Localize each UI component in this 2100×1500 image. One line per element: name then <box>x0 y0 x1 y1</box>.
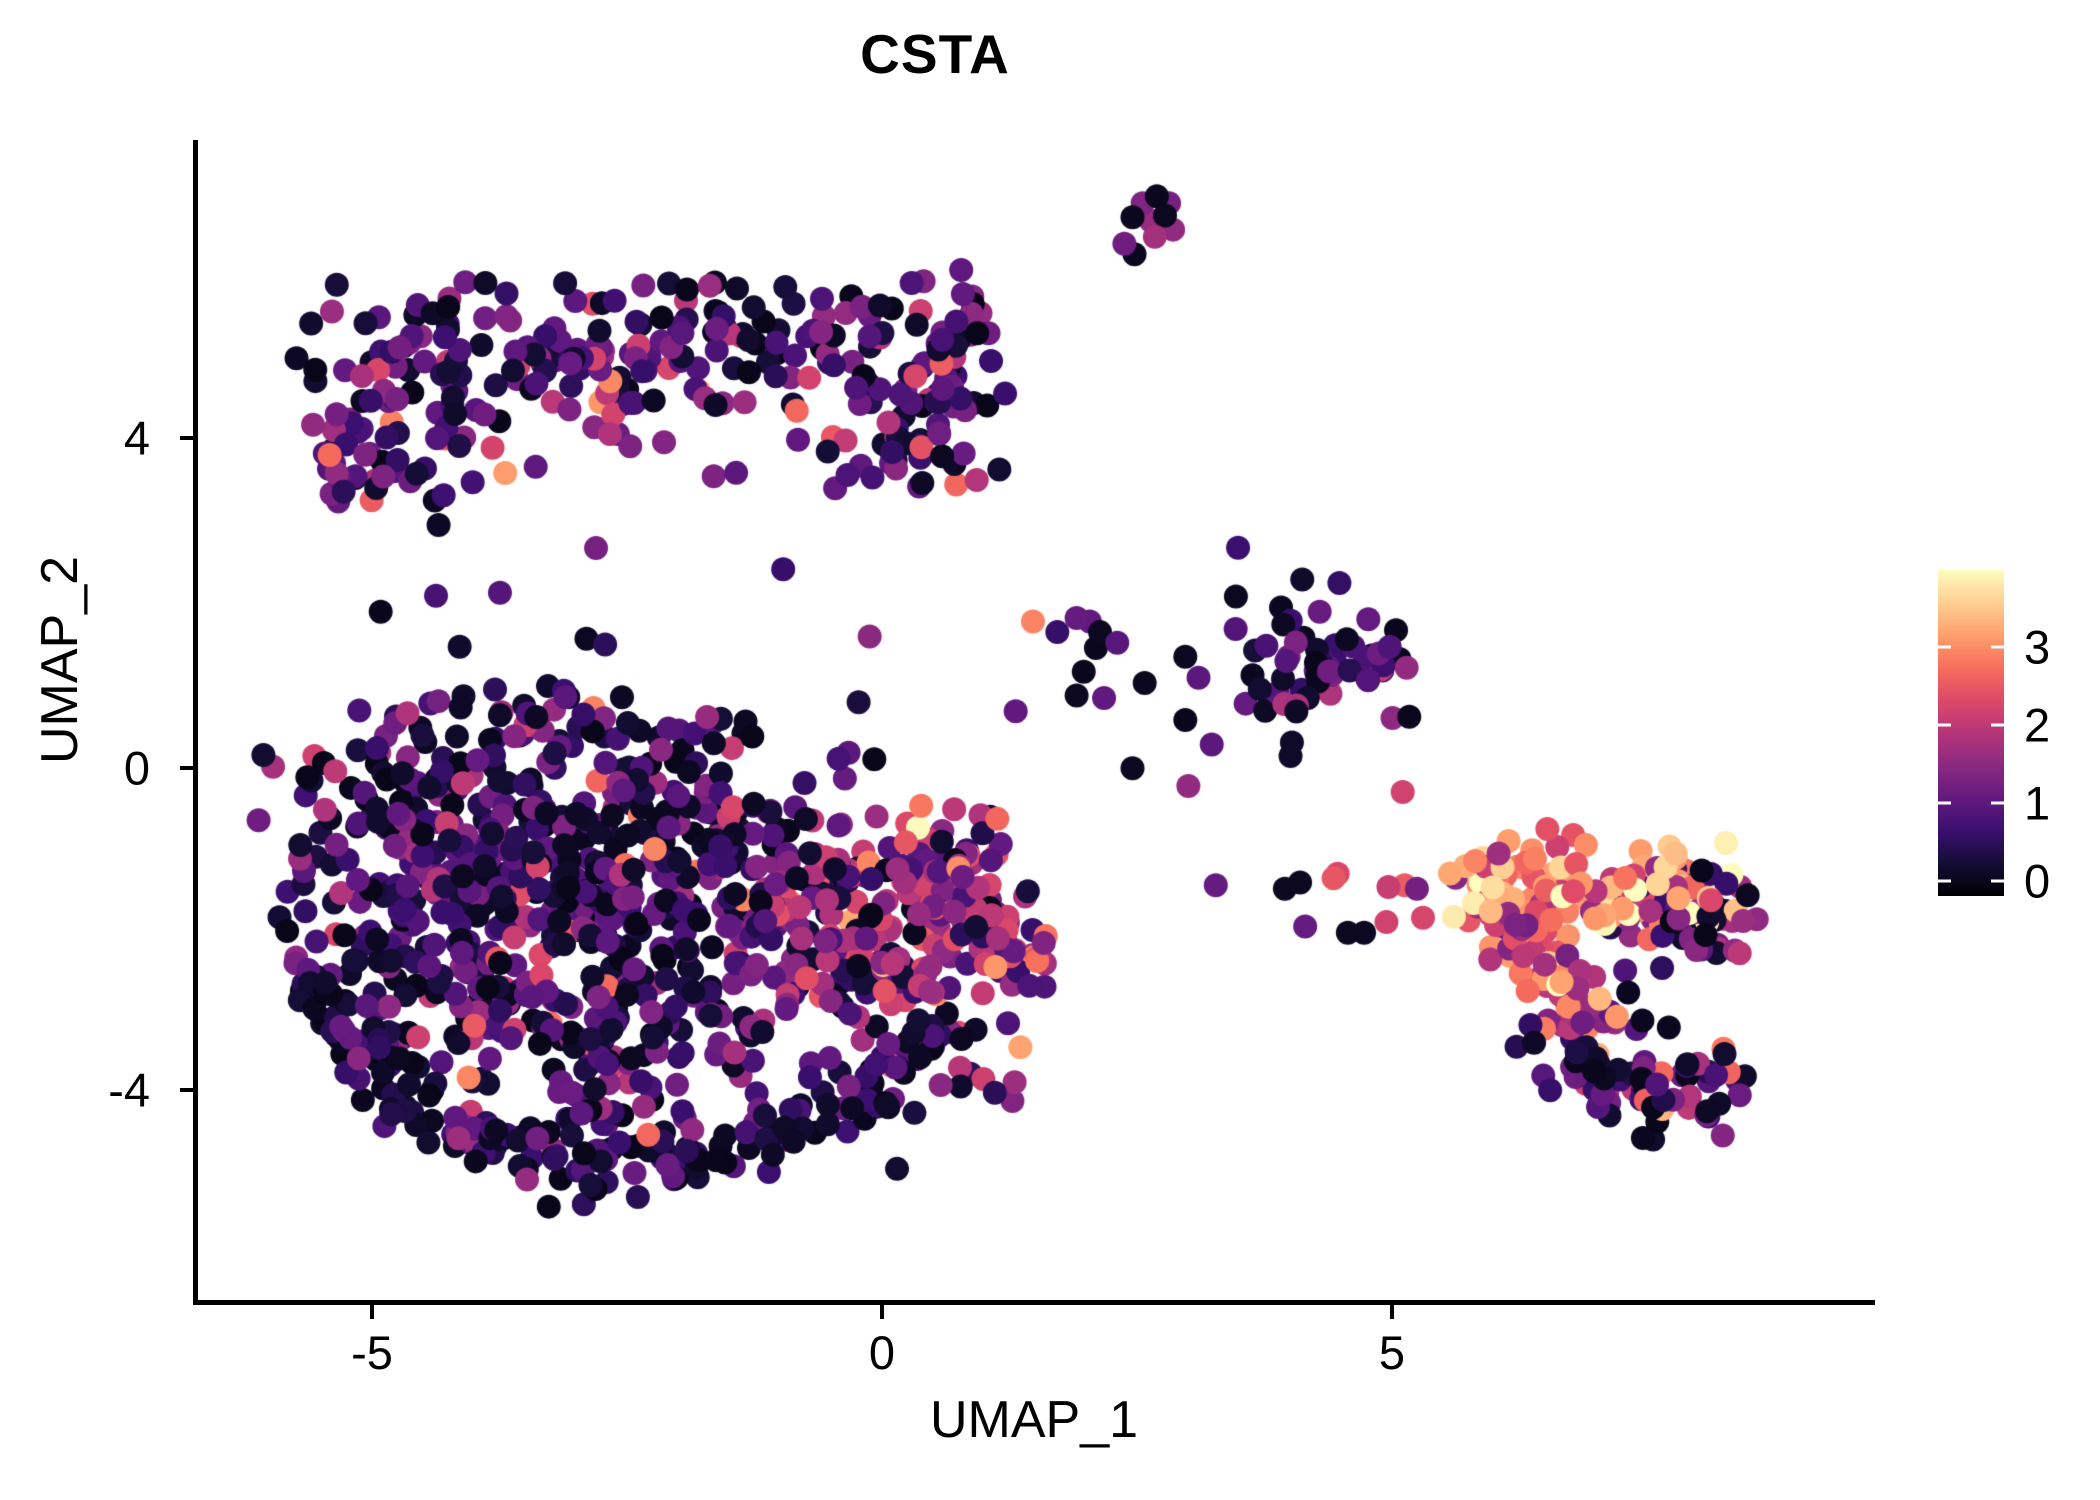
colorbar-gradient <box>1938 570 2004 896</box>
y-tick-mark-0 <box>180 766 194 770</box>
x-tick-mark-m5 <box>370 1305 374 1319</box>
x-axis-title: UMAP_1 <box>195 1390 1873 1450</box>
y-tick-label-0: 0 <box>60 741 150 796</box>
y-tick-label-m4: -4 <box>60 1063 150 1118</box>
colorbar-label-3: 3 <box>2024 620 2050 675</box>
colorbar-tick-1-right <box>1991 802 2004 805</box>
colorbar-tick-1-left <box>1938 802 1951 805</box>
x-tick-label-5: 5 <box>1332 1325 1452 1380</box>
colorbar-tick-2-right <box>1991 724 2004 727</box>
colorbar-tick-3-left <box>1938 646 1951 649</box>
colorbar-tick-0-left <box>1938 880 1951 883</box>
x-axis-line <box>193 1300 1875 1305</box>
umap-feature-plot: CSTA UMAP_2 UMAP_1 4 0 -4 -5 0 5 3 2 1 0 <box>0 0 2100 1500</box>
y-axis-title: UMAP_2 <box>30 430 90 890</box>
colorbar-label-1: 1 <box>2024 776 2050 831</box>
x-tick-label-m5: -5 <box>312 1325 432 1380</box>
page-title: CSTA <box>0 22 1870 86</box>
colorbar-label-0: 0 <box>2024 854 2050 909</box>
x-tick-mark-0 <box>880 1305 884 1319</box>
y-tick-mark-4 <box>180 436 194 440</box>
colorbar-legend: 3 2 1 0 <box>1938 570 2004 896</box>
y-tick-label-4: 4 <box>60 411 150 466</box>
x-tick-label-0: 0 <box>822 1325 942 1380</box>
colorbar-tick-2-left <box>1938 724 1951 727</box>
x-tick-mark-5 <box>1390 1305 1394 1319</box>
scatter-plot-area <box>198 140 1874 1300</box>
colorbar-tick-3-right <box>1991 646 2004 649</box>
y-tick-mark-m4 <box>180 1088 194 1092</box>
colorbar-tick-0-right <box>1991 880 2004 883</box>
colorbar-label-2: 2 <box>2024 698 2050 753</box>
